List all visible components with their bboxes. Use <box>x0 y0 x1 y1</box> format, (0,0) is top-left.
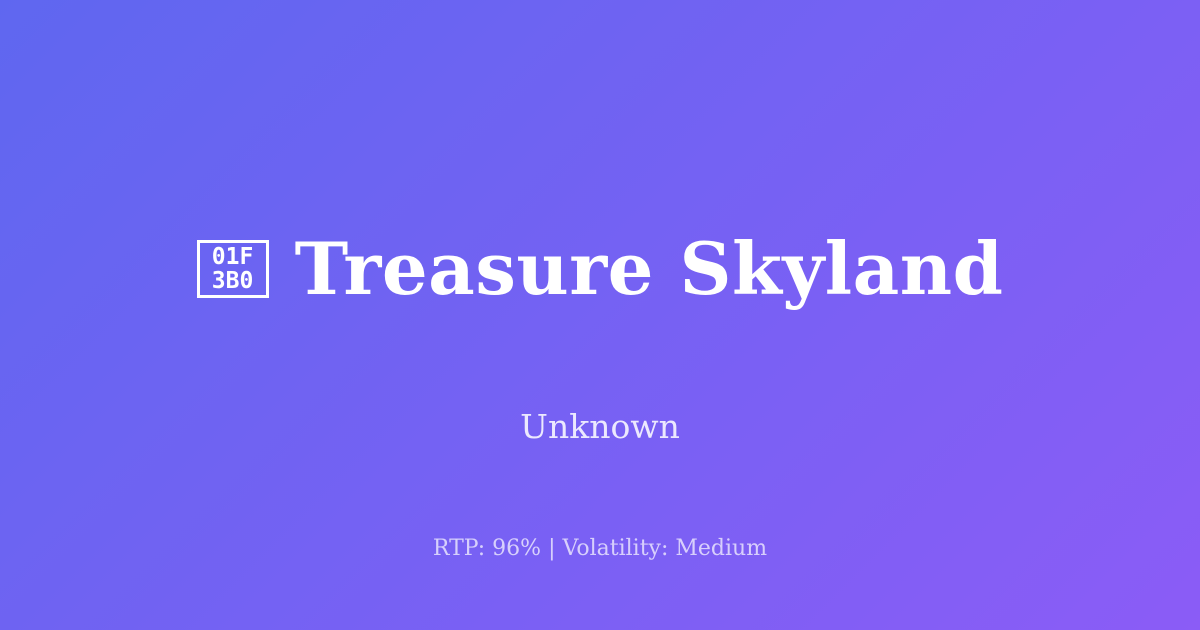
page-title: Treasure Skyland <box>295 231 1004 307</box>
slot-machine-emoji-icon: 01F 3B0 <box>197 240 269 298</box>
codepoint-hex-bottom: 3B0 <box>212 269 254 293</box>
og-preview-card: 01F 3B0 Treasure Skyland Unknown RTP: 96… <box>0 0 1200 630</box>
subtitle: Unknown <box>520 407 680 447</box>
codepoint-hex-top: 01F <box>212 245 254 269</box>
title-row: 01F 3B0 Treasure Skyland <box>0 183 1200 355</box>
game-meta-line: RTP: 96% | Volatility: Medium <box>0 536 1200 562</box>
